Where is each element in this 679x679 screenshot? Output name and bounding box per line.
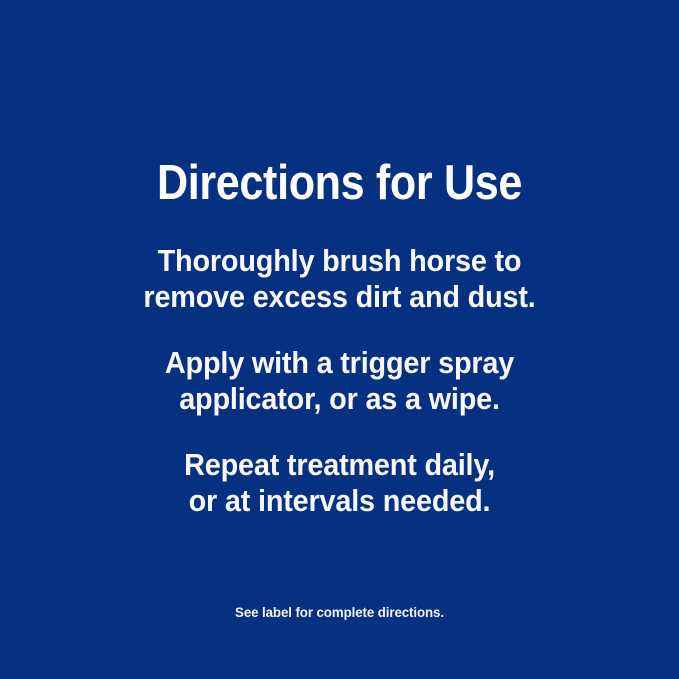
instruction-step-1: Thoroughly brush horse to remove excess … xyxy=(24,243,655,314)
instruction-step-3: Repeat treatment daily, or at intervals … xyxy=(24,447,655,518)
directions-for-use-panel: Directions for Use Thoroughly brush hors… xyxy=(0,0,679,679)
instruction-line: Thoroughly brush horse to xyxy=(24,243,655,279)
instruction-line: remove excess dirt and dust. xyxy=(24,279,655,315)
panel-content: Directions for Use Thoroughly brush hors… xyxy=(0,0,679,679)
instruction-step-2: Apply with a trigger spray applicator, o… xyxy=(24,345,655,416)
footnote-text: See label for complete directions. xyxy=(17,603,662,622)
instruction-line: Apply with a trigger spray xyxy=(24,345,655,381)
instructions-list: Thoroughly brush horse to remove excess … xyxy=(0,243,679,518)
page-title: Directions for Use xyxy=(41,156,639,210)
instruction-line: or at intervals needed. xyxy=(24,483,655,519)
instruction-line: applicator, or as a wipe. xyxy=(24,381,655,417)
instruction-line: Repeat treatment daily, xyxy=(24,447,655,483)
